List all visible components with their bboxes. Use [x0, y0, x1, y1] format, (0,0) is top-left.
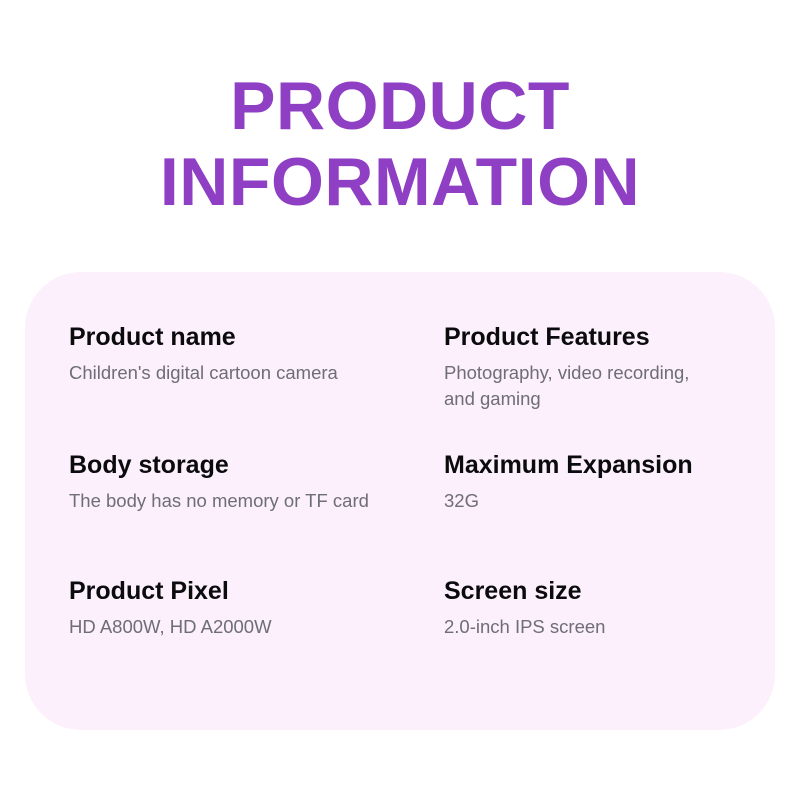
spec-value-line: Photography, video recording, — [444, 360, 749, 386]
spec-label: Screen size — [444, 576, 749, 607]
spec-value-line: and gaming — [444, 386, 749, 412]
product-specs-card: Product name Children's digital cartoon … — [25, 272, 775, 730]
product-specs-grid: Product name Children's digital cartoon … — [69, 322, 749, 640]
spec-value: 32G — [444, 488, 749, 514]
spec-label: Maximum Expansion — [444, 450, 749, 481]
spec-value-line: HD A800W, HD A2000W — [69, 614, 444, 640]
product-information-page: PRODUCT INFORMATION Product name Childre… — [0, 0, 800, 800]
spec-value: 2.0-inch IPS screen — [444, 614, 749, 640]
spec-label: Product Features — [444, 322, 749, 353]
page-title: PRODUCT INFORMATION — [0, 68, 800, 220]
spec-value-line: Children's digital cartoon camera — [69, 360, 444, 386]
spec-label: Product Pixel — [69, 576, 444, 607]
spec-value-line: The body has no memory or TF card — [69, 488, 444, 514]
spec-value: Photography, video recording, and gaming — [444, 360, 749, 412]
spec-item-body-storage: Body storage The body has no memory or T… — [69, 450, 444, 514]
spec-value: Children's digital cartoon camera — [69, 360, 444, 386]
spec-item-product-pixel: Product Pixel HD A800W, HD A2000W — [69, 576, 444, 640]
spec-item-product-name: Product name Children's digital cartoon … — [69, 322, 444, 412]
page-title-line-1: PRODUCT — [0, 68, 800, 144]
spec-value-line: 32G — [444, 488, 749, 514]
spec-value-line: 2.0-inch IPS screen — [444, 614, 749, 640]
spec-value: The body has no memory or TF card — [69, 488, 444, 514]
spec-label: Product name — [69, 322, 444, 353]
spec-label: Body storage — [69, 450, 444, 481]
page-title-line-2: INFORMATION — [0, 144, 800, 220]
spec-item-product-features: Product Features Photography, video reco… — [444, 322, 749, 412]
spec-item-maximum-expansion: Maximum Expansion 32G — [444, 450, 749, 514]
spec-item-screen-size: Screen size 2.0-inch IPS screen — [444, 576, 749, 640]
spec-value: HD A800W, HD A2000W — [69, 614, 444, 640]
